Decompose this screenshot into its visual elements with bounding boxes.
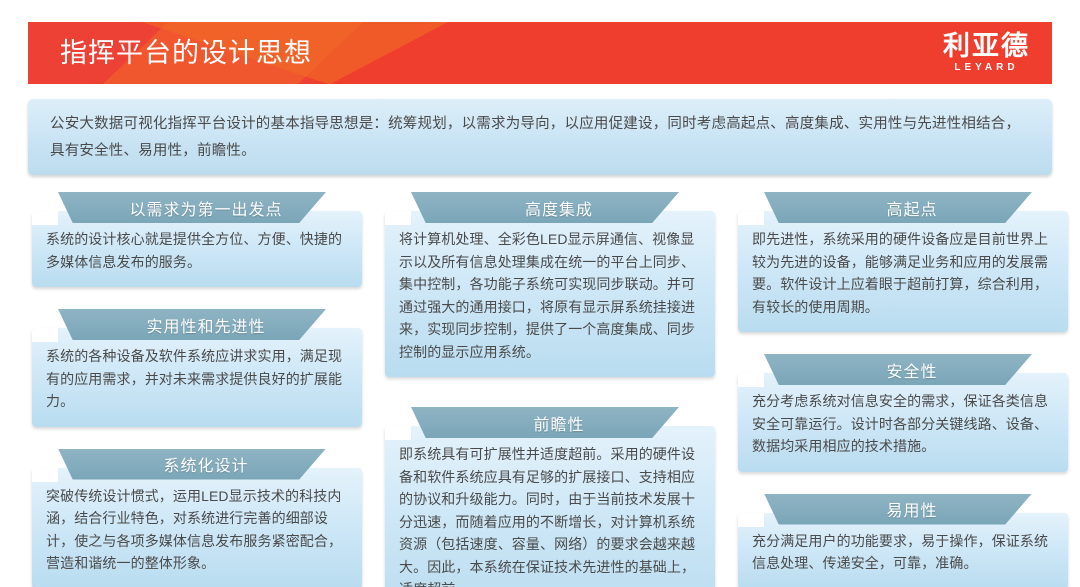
- card-ribbon: 系统化设计: [58, 449, 326, 480]
- card-title: 高起点: [886, 196, 937, 220]
- card-text: 将计算机处理、全彩色LED显示屏通信、视像显示以及所有信息处理集成在统一的平台上…: [399, 228, 701, 363]
- brand-logo-en: LEYARD: [943, 62, 1030, 74]
- card-ribbon: 高起点: [764, 192, 1032, 223]
- card-title: 易用性: [886, 497, 937, 521]
- column-left: 以需求为第一出发点 系统的设计核心就是提供全方位、方便、快捷的多媒体信息发布的服…: [32, 192, 362, 587]
- card-title: 系统化设计: [163, 452, 248, 476]
- card-ribbon: 安全性: [764, 354, 1032, 385]
- card-ribbon: 以需求为第一出发点: [58, 192, 326, 223]
- intro-text: 公安大数据可视化指挥平台设计的基本指导思想是：统筹规划，以需求为导向，以应用促建…: [50, 111, 1032, 165]
- card-title: 实用性和先进性: [146, 313, 265, 337]
- card-title: 高度集成: [525, 196, 593, 220]
- page-title: 指挥平台的设计思想: [60, 22, 312, 84]
- card-body: 即系统具有可扩展性并适度超前。采用的硬件设备和软件系统应具有足够的扩展接口、支持…: [385, 426, 715, 587]
- card-title: 以需求为第一出发点: [129, 196, 282, 220]
- card-text: 系统的设计核心就是提供全方位、方便、快捷的多媒体信息发布的服务。: [46, 228, 348, 273]
- brand-logo: 利亚德 LEYARD: [943, 30, 1030, 74]
- card-high-starting-point[interactable]: 高起点 即先进性，系统采用的硬件设备应是目前世界上较为先进的设备，能够满足业务和…: [738, 192, 1068, 332]
- card-systematic-design[interactable]: 系统化设计 突破传统设计惯式，运用LED显示技术的科技内涵，结合行业特色，对系统…: [32, 449, 362, 587]
- card-ribbon: 实用性和先进性: [58, 309, 326, 340]
- card-security[interactable]: 安全性 充分考虑系统对信息安全的需求，保证各类信息安全可靠运行。设计时各部分关键…: [738, 354, 1068, 472]
- card-body: 将计算机处理、全彩色LED显示屏通信、视像显示以及所有信息处理集成在统一的平台上…: [385, 211, 715, 377]
- card-text: 即先进性，系统采用的硬件设备应是目前世界上较为先进的设备，能够满足业务和应用的发…: [752, 228, 1054, 318]
- intro-panel: 公安大数据可视化指挥平台设计的基本指导思想是：统筹规划，以需求为导向，以应用促建…: [28, 99, 1052, 175]
- card-text: 充分满足用户的功能要求，易于操作，保证系统信息处理、传递安全，可靠，准确。: [752, 530, 1054, 575]
- card-practicality-advancement[interactable]: 实用性和先进性 系统的各种设备及软件系统应讲求实用，满足现有的应用需求，并对未来…: [32, 309, 362, 427]
- card-body: 突破传统设计惯式，运用LED显示技术的科技内涵，结合行业特色，对系统进行完善的细…: [32, 468, 362, 587]
- slide-root: 指挥平台的设计思想 利亚德 LEYARD 公安大数据可视化指挥平台设计的基本指导…: [0, 0, 1080, 587]
- card-body: 即先进性，系统采用的硬件设备应是目前世界上较为先进的设备，能够满足业务和应用的发…: [738, 211, 1068, 332]
- column-right: 高起点 即先进性，系统采用的硬件设备应是目前世界上较为先进的设备，能够满足业务和…: [738, 192, 1068, 587]
- card-text: 充分考虑系统对信息安全的需求，保证各类信息安全可靠运行。设计时各部分关键线路、设…: [752, 390, 1054, 458]
- card-usability[interactable]: 易用性 充分满足用户的功能要求，易于操作，保证系统信息处理、传递安全，可靠，准确…: [738, 494, 1068, 587]
- column-middle: 高度集成 将计算机处理、全彩色LED显示屏通信、视像显示以及所有信息处理集成在统…: [385, 192, 715, 587]
- card-title: 安全性: [886, 358, 937, 382]
- card-text: 即系统具有可扩展性并适度超前。采用的硬件设备和软件系统应具有足够的扩展接口、支持…: [399, 443, 701, 587]
- card-ribbon: 前瞻性: [411, 407, 679, 438]
- card-text: 突破传统设计惯式，运用LED显示技术的科技内涵，结合行业特色，对系统进行完善的细…: [46, 485, 348, 575]
- card-body: 系统的各种设备及软件系统应讲求实用，满足现有的应用需求，并对未来需求提供良好的扩…: [32, 328, 362, 427]
- card-forward-looking[interactable]: 前瞻性 即系统具有可扩展性并适度超前。采用的硬件设备和软件系统应具有足够的扩展接…: [385, 407, 715, 587]
- brand-logo-cn: 利亚德: [943, 30, 1030, 62]
- card-ribbon: 易用性: [764, 494, 1032, 525]
- card-ribbon: 高度集成: [411, 192, 679, 223]
- card-text: 系统的各种设备及软件系统应讲求实用，满足现有的应用需求，并对未来需求提供良好的扩…: [46, 345, 348, 413]
- card-high-integration[interactable]: 高度集成 将计算机处理、全彩色LED显示屏通信、视像显示以及所有信息处理集成在统…: [385, 192, 715, 377]
- header-banner: 指挥平台的设计思想 利亚德 LEYARD: [28, 22, 1052, 84]
- card-body: 充分考虑系统对信息安全的需求，保证各类信息安全可靠运行。设计时各部分关键线路、设…: [738, 373, 1068, 472]
- card-title: 前瞻性: [533, 411, 584, 435]
- card-need-first-starting-point[interactable]: 以需求为第一出发点 系统的设计核心就是提供全方位、方便、快捷的多媒体信息发布的服…: [32, 192, 362, 287]
